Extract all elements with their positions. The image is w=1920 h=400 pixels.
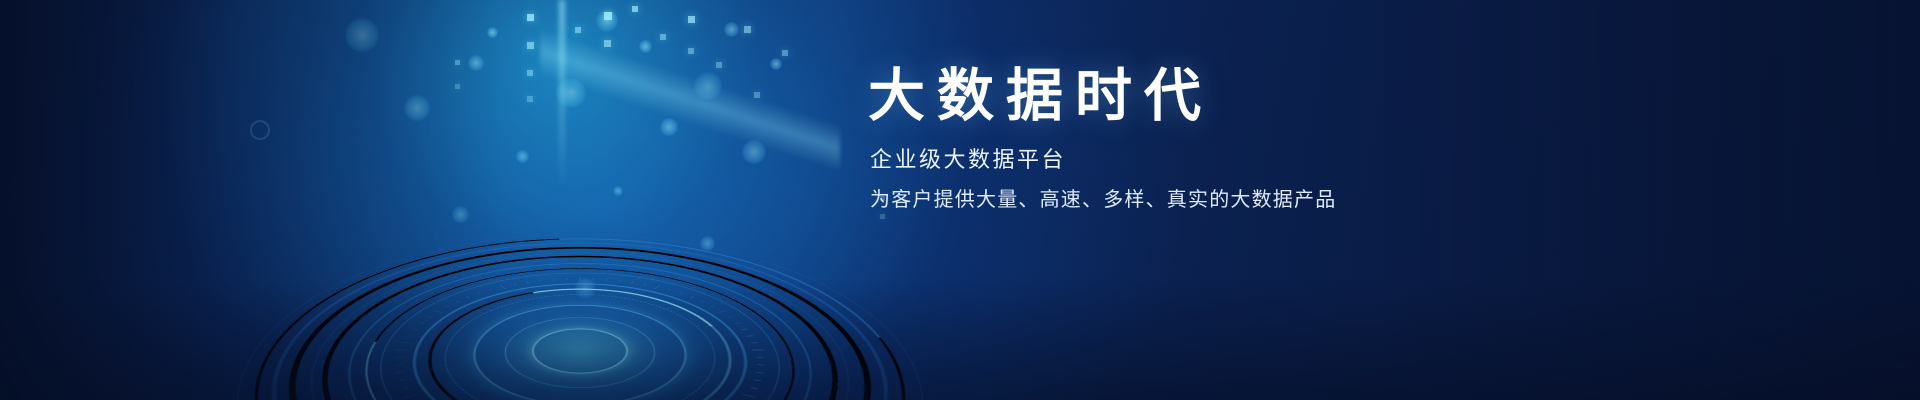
hud-tick [668, 289, 671, 291]
bokeh-circle [468, 55, 484, 71]
hud-ring-7 [165, 243, 995, 400]
hud-tick [514, 284, 517, 286]
hud-tick [747, 335, 753, 336]
data-square [782, 50, 788, 56]
bokeh-circle [345, 18, 379, 52]
hud-ring-6 [290, 263, 871, 400]
hud-tick [419, 322, 424, 323]
hud-tick [553, 279, 555, 281]
hud-tick [405, 394, 418, 398]
hud-tick [735, 322, 740, 323]
hud-tick [399, 380, 406, 382]
hud-tick [742, 329, 748, 330]
hud-tick [580, 277, 581, 281]
data-square [575, 27, 581, 33]
hud-center-glow [404, 289, 756, 400]
hud-tick [445, 306, 450, 308]
bokeh-circle [404, 95, 430, 121]
hud-arc-1 [366, 272, 764, 400]
hud-tick [403, 387, 410, 389]
bokeh-circle [250, 120, 270, 140]
data-square [716, 62, 722, 68]
bokeh-circle [770, 58, 782, 70]
data-square [455, 60, 460, 65]
hud-tick [396, 364, 402, 365]
hud-tick [566, 278, 567, 280]
hud-tick [455, 301, 459, 303]
data-square [744, 26, 751, 33]
data-square [527, 14, 534, 21]
hud-tick [477, 293, 481, 295]
data-square [527, 42, 534, 49]
hud-tick [631, 282, 633, 284]
hud-ring-dashed-outer [231, 253, 929, 400]
hud-tick [655, 285, 660, 289]
data-square [455, 84, 460, 89]
hud-tick [742, 394, 755, 398]
hud-tick [427, 316, 432, 317]
hud-ring-5 [337, 273, 822, 400]
hud-arc-2 [291, 242, 883, 400]
hud-tick [700, 301, 704, 303]
hud-tick [397, 357, 403, 358]
bokeh-circle [724, 22, 739, 37]
hud-tick [500, 285, 505, 289]
data-square [660, 34, 666, 40]
data-square [688, 48, 694, 54]
hud-ring-4 [383, 283, 777, 400]
bokeh-circle [596, 10, 618, 32]
bokeh-circle [487, 27, 498, 38]
hud-arc-5 [126, 206, 1001, 400]
bokeh-circle [694, 72, 722, 100]
hud-tick [717, 310, 726, 313]
bokeh-circle [639, 40, 652, 53]
bokeh-circle [516, 150, 529, 163]
radar-hud-graphic [26, 236, 1134, 400]
page-title: 大数据时代 [868, 66, 1628, 128]
hud-tick [593, 278, 594, 280]
bokeh-circle [660, 118, 678, 136]
hud-tick [402, 342, 408, 343]
hud-ring-dashed [426, 294, 735, 400]
hero-subtitle: 企业级大数据平台 [870, 142, 1628, 174]
hud-tick [752, 342, 758, 343]
data-square [880, 214, 885, 219]
data-square [604, 40, 611, 47]
hud-ring-2 [499, 317, 661, 388]
bokeh-circle [742, 140, 766, 164]
bokeh-circle [452, 206, 469, 223]
hud-tick [527, 282, 529, 284]
hud-arc-3 [205, 236, 860, 400]
bokeh-circle [613, 186, 623, 196]
hero-banner: 大数据时代 企业级大数据平台 为客户提供大量、高速、多样、真实的大数据产品 [0, 0, 1920, 400]
light-beam [560, 0, 564, 190]
hud-tick [413, 329, 419, 330]
data-square [527, 96, 533, 102]
hud-tick [540, 280, 542, 282]
hud-tick [757, 357, 763, 358]
data-square [688, 16, 695, 23]
light-shaft [540, 0, 840, 200]
data-square [604, 12, 612, 20]
hud-tick [407, 335, 413, 336]
hud-tick [489, 289, 492, 291]
hud-tick [644, 284, 647, 286]
hud-tick [679, 293, 683, 295]
hud-tick [755, 380, 762, 382]
hud-tick [751, 387, 758, 389]
hud-ring-3 [462, 305, 699, 400]
hud-ring-8 [103, 234, 1057, 400]
hud-arc-4 [152, 227, 880, 400]
data-square [754, 92, 760, 98]
hero-description: 为客户提供大量、高速、多样、真实的大数据产品 [870, 183, 1628, 212]
hud-tick [466, 296, 470, 298]
data-square [527, 70, 533, 76]
hud-tick [758, 364, 764, 365]
hero-copy: 大数据时代 企业级大数据平台 为客户提供大量、高速、多样、真实的大数据产品 [868, 66, 1628, 212]
hud-tick [728, 316, 733, 317]
hud-tick [397, 372, 403, 373]
hud-tick [710, 306, 715, 308]
hud-tick [606, 279, 608, 281]
hud-tick [618, 280, 620, 282]
data-square [632, 6, 638, 12]
hud-tick [757, 372, 763, 373]
hud-ring-1 [530, 328, 631, 373]
hud-tick [690, 296, 694, 298]
hud-tick [434, 310, 443, 313]
